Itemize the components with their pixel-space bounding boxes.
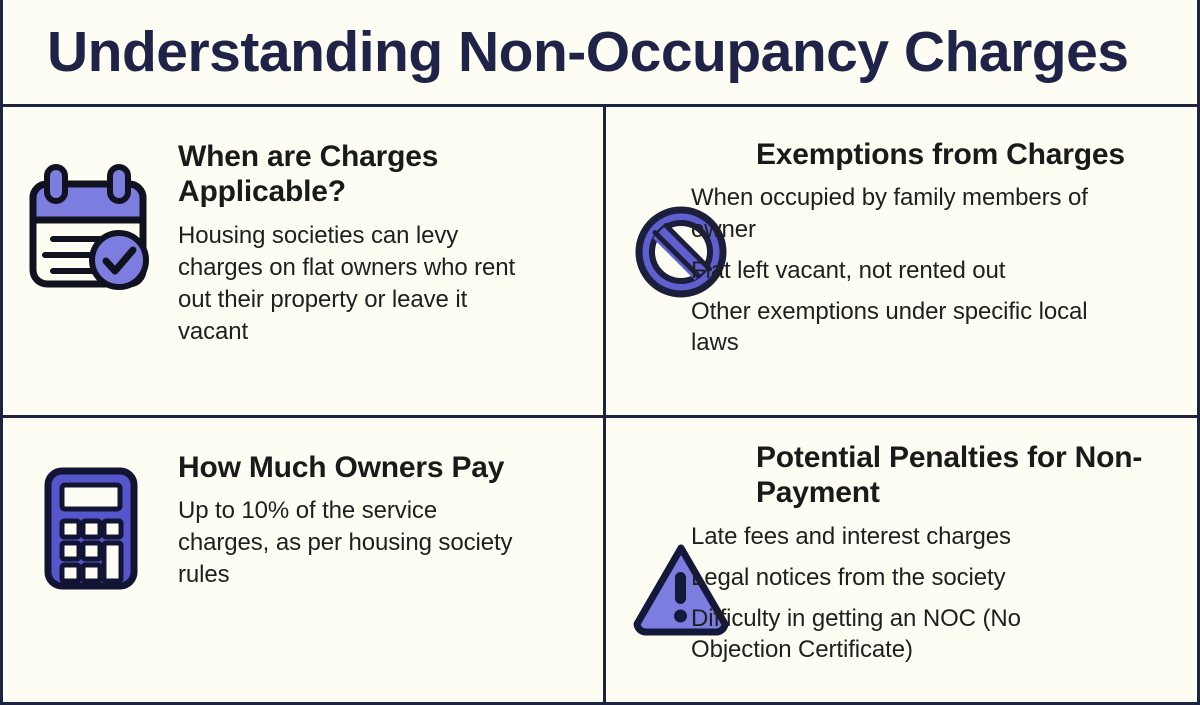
card-heading: Potential Penalties for Non-Payment — [756, 440, 1187, 511]
page-title: Understanding Non-Occupancy Charges — [47, 24, 1129, 81]
card-heading: Exemptions from Charges — [756, 137, 1187, 172]
calculator-icon — [43, 466, 139, 705]
card-heading: How Much Owners Pay — [178, 450, 528, 485]
card-text-container: Potential Penalties for Non-Payment Late… — [691, 418, 1200, 705]
card-grid: When are Charges Applicable? Housing soc… — [3, 107, 1200, 705]
list-item: When occupied by family members of owner — [691, 182, 1121, 244]
card-body: Housing societies can levy charges on fl… — [178, 220, 528, 348]
calendar-check-icon — [16, 162, 166, 415]
list-item: Legal notices from the society — [691, 562, 1121, 593]
exemptions-list: When occupied by family members of owner… — [691, 182, 1121, 358]
list-item: Other exemptions under specific local la… — [691, 296, 1121, 358]
card-exemptions: Exemptions from Charges When occupied by… — [606, 107, 1200, 418]
card-text-container: When are Charges Applicable? Housing soc… — [178, 107, 603, 415]
title-band: Understanding Non-Occupancy Charges — [3, 0, 1197, 107]
list-item: Flat left vacant, not rented out — [691, 255, 1121, 286]
list-item: Late fees and interest charges — [691, 521, 1121, 552]
card-penalties: Potential Penalties for Non-Payment Late… — [606, 418, 1200, 705]
card-heading: When are Charges Applicable? — [178, 139, 528, 210]
list-item: Difficulty in getting an NOC (No Objecti… — [691, 603, 1121, 665]
infographic-root: Understanding Non-Occupancy Charges — [0, 0, 1200, 705]
penalties-list: Late fees and interest charges Legal not… — [691, 521, 1121, 666]
card-icon-container — [3, 418, 178, 705]
card-body: Up to 10% of the service charges, as per… — [178, 495, 528, 591]
card-icon-container — [3, 107, 178, 415]
card-how-much: How Much Owners Pay Up to 10% of the ser… — [3, 418, 606, 705]
card-when-applicable: When are Charges Applicable? Housing soc… — [3, 107, 606, 418]
card-text-container: Exemptions from Charges When occupied by… — [691, 107, 1200, 415]
card-text-container: How Much Owners Pay Up to 10% of the ser… — [178, 418, 603, 705]
